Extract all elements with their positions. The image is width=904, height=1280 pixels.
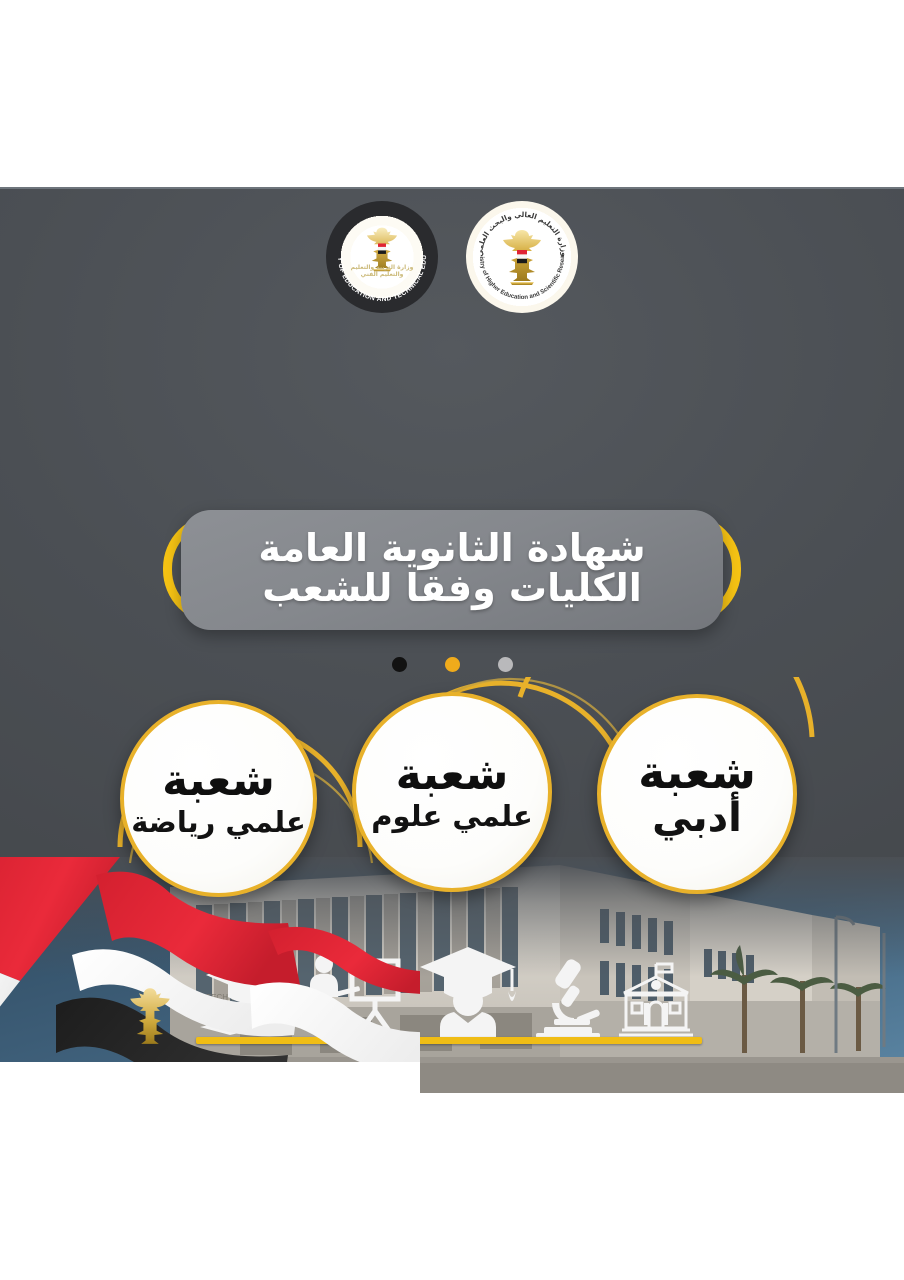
logo-ring-text: MINISTRY OF EDUCATION AND TECHNICAL EDUC… (326, 201, 438, 313)
title-plate: شهادة الثانوية العامة الكليات وفقا للشعب (181, 510, 723, 630)
page-title-line-2: الكليات وفقا للشعب (262, 568, 642, 609)
branch-label-bottom: علمي علوم (371, 801, 533, 831)
ministry-logos-row: وزارة التعليم العالي والبحث العلمي Minis… (0, 197, 904, 317)
branch-label-bottom: علمي رياضة (131, 807, 306, 837)
branch-label-top: شعبة (396, 753, 509, 797)
logo-ring-text: وزارة التعليم العالي والبحث العلمي Minis… (466, 201, 578, 313)
page-title-line-1: شهادة الثانوية العامة (258, 529, 645, 569)
egyptian-flags (0, 857, 420, 1093)
svg-text:وزارة التعليم العالي والبحث ال: وزارة التعليم العالي والبحث العلمي (475, 210, 569, 257)
title-banner: شهادة الثانوية العامة الكليات وفقا للشعب (163, 510, 741, 628)
decorative-dots (0, 657, 904, 672)
poster-canvas: وزارة التعليم العالي والبحث العلمي Minis… (0, 187, 904, 1093)
branch-label-bottom: أدبي (652, 797, 742, 839)
university-building-icon (616, 961, 702, 1039)
ministry-of-higher-education-logo: وزارة التعليم العالي والبحث العلمي Minis… (466, 201, 578, 313)
poster-top-divider (0, 187, 904, 189)
branch-label-top: شعبة (162, 759, 275, 803)
branch-label-top: شعبة (638, 749, 756, 795)
dot-gray-icon (498, 657, 513, 672)
svg-text:MINISTRY OF EDUCATION AND TECH: MINISTRY OF EDUCATION AND TECHNICAL EDUC… (326, 201, 428, 303)
dot-black-icon (392, 657, 407, 672)
branch-circle-literary[interactable]: شعبة أدبي (597, 694, 797, 894)
dot-gold-icon (445, 657, 460, 672)
graduate-student-icon (416, 943, 520, 1039)
microscope-icon (532, 957, 604, 1039)
ministry-of-education-logo: MINISTRY OF EDUCATION AND TECHNICAL EDUC… (326, 201, 438, 313)
